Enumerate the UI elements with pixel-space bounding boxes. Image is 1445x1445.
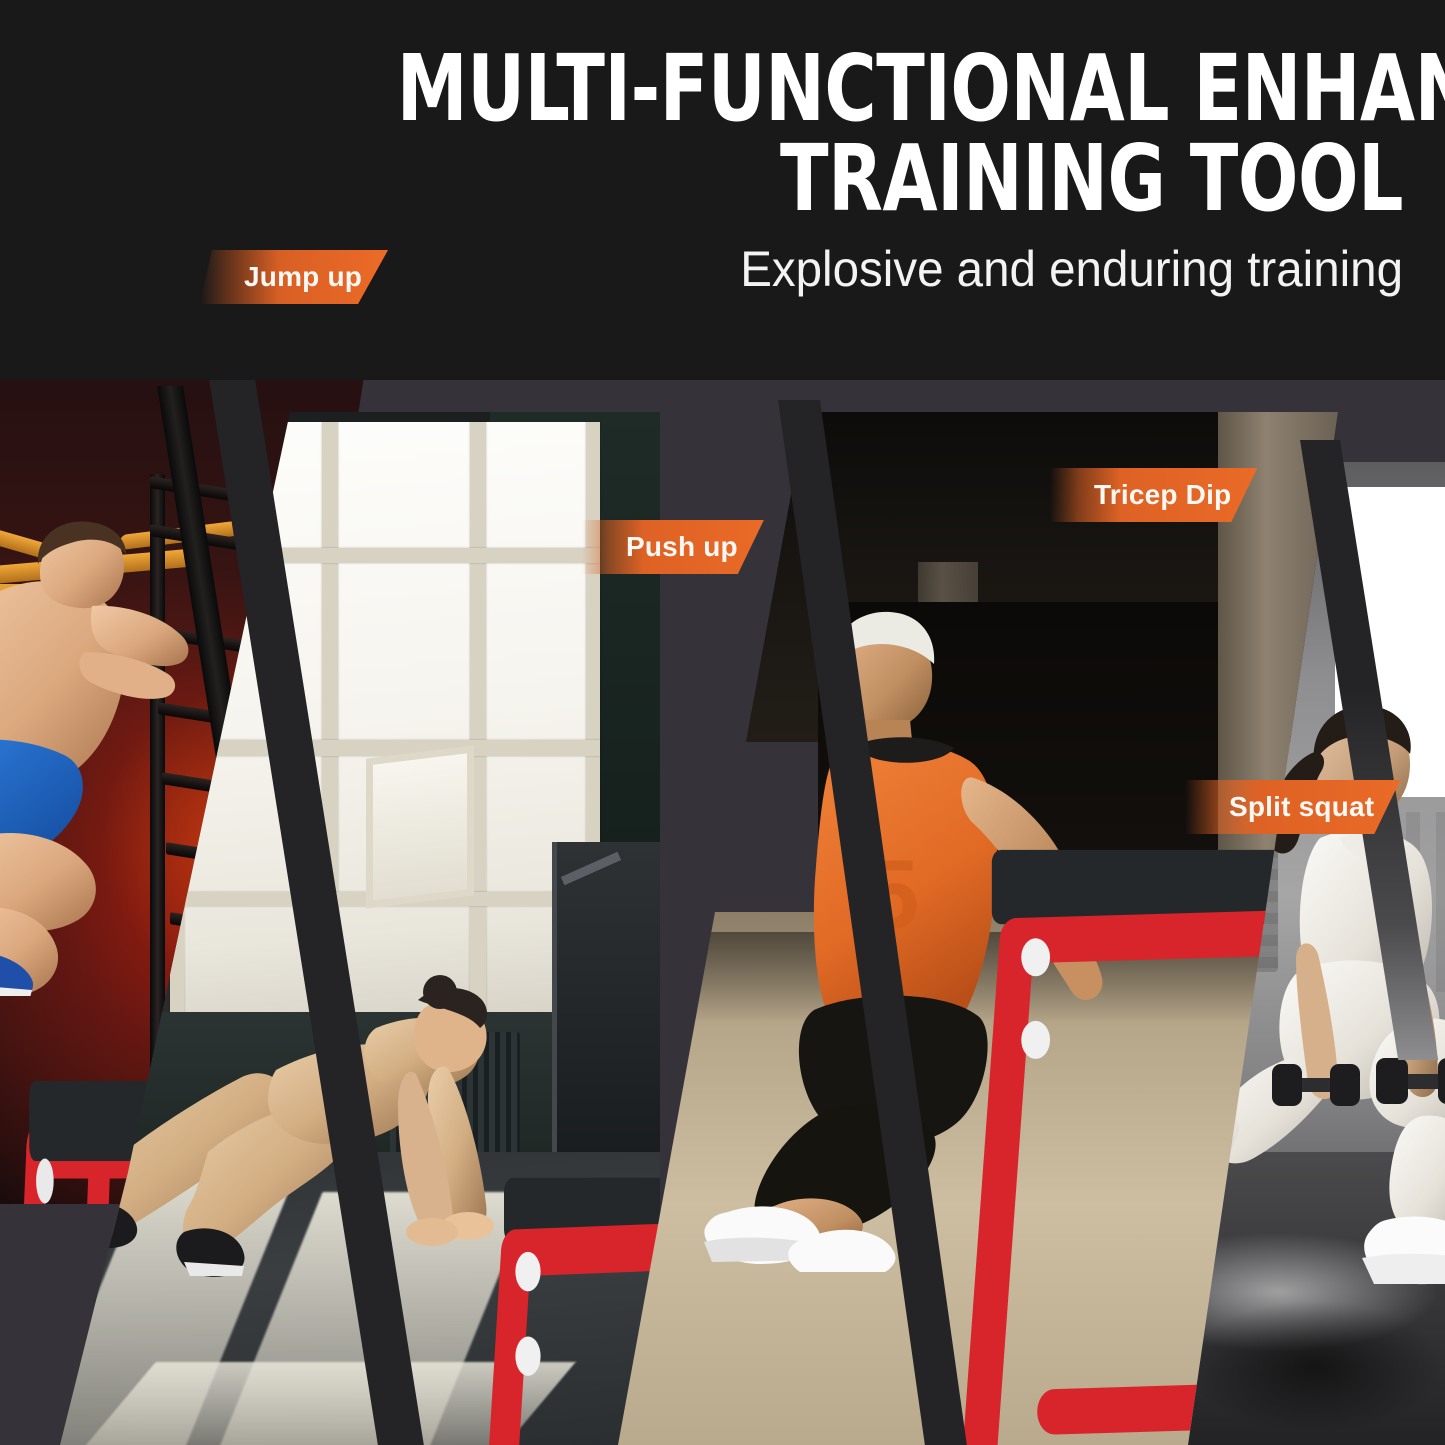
poster-title-line-1: MULTI-FUNCTIONAL ENHANCED xyxy=(397,44,1403,134)
badge-split-squat-label: Split squat xyxy=(1229,791,1374,823)
poster-title-line-2: TRAINING TOOL xyxy=(397,134,1403,224)
badge-split-squat: Split squat xyxy=(1185,780,1400,834)
poster-subtitle: Explosive and enduring training xyxy=(292,242,1404,297)
badge-tricep-dip-label: Tricep Dip xyxy=(1094,479,1231,511)
gym-machine xyxy=(552,842,660,1152)
badge-jump-up-label: Jump up xyxy=(244,261,362,293)
badge-push-up-label: Push up xyxy=(626,531,738,563)
poster-header: MULTI-FUNCTIONAL ENHANCED TRAINING TOOL … xyxy=(0,0,1445,380)
window-mullion xyxy=(170,740,600,756)
badge-jump-up: Jump up xyxy=(200,250,388,304)
header-text-block: MULTI-FUNCTIONAL ENHANCED TRAINING TOOL … xyxy=(233,44,1403,297)
badge-tricep-dip: Tricep Dip xyxy=(1050,468,1257,522)
product-feature-poster: 5 xyxy=(0,0,1445,1445)
badge-push-up: Push up xyxy=(582,520,764,574)
